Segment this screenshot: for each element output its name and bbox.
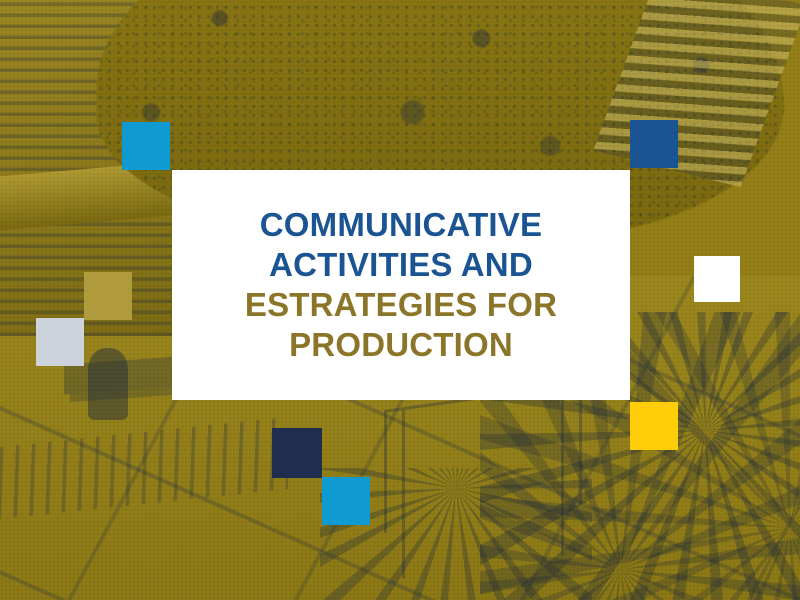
title-line-4: PRODUCTION bbox=[245, 325, 557, 365]
title-block: COMMUNICATIVE ACTIVITIES AND ESTRATEGIES… bbox=[223, 205, 579, 366]
title-slide: COMMUNICATIVE ACTIVITIES AND ESTRATEGIES… bbox=[0, 0, 800, 600]
blue-square-top-right bbox=[630, 120, 678, 168]
pale-gray-square-left bbox=[36, 318, 84, 366]
title-line-3: ESTRATEGIES FOR bbox=[245, 285, 557, 325]
title-card: COMMUNICATIVE ACTIVITIES AND ESTRATEGIES… bbox=[172, 170, 630, 400]
cyan-square-bottom bbox=[322, 477, 370, 525]
title-line-2: ACTIVITIES AND bbox=[245, 245, 557, 285]
navy-square-bottom bbox=[272, 428, 322, 478]
cyan-square-top-left bbox=[122, 122, 170, 170]
tan-square-left bbox=[84, 272, 132, 320]
yellow-square-bottom-right bbox=[630, 402, 678, 450]
title-line-1: COMMUNICATIVE bbox=[245, 205, 557, 245]
page-title: COMMUNICATIVE ACTIVITIES AND ESTRATEGIES… bbox=[245, 205, 557, 366]
white-square-right bbox=[694, 256, 740, 302]
